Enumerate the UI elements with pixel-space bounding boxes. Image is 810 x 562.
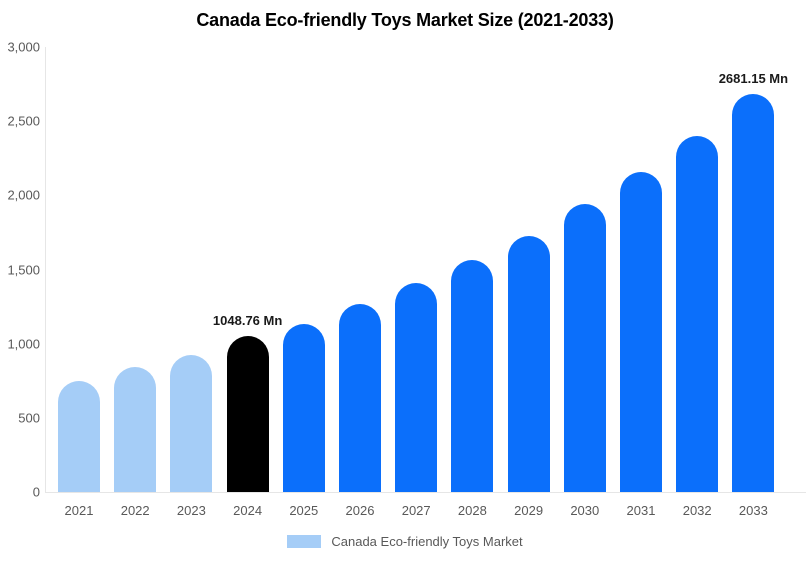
bar-group[interactable]: [676, 47, 718, 492]
bar[interactable]: [451, 260, 493, 492]
y-axis-tick-label: 0: [0, 485, 40, 500]
legend-label: Canada Eco-friendly Toys Market: [331, 534, 522, 549]
bar-group[interactable]: [170, 47, 212, 492]
x-axis-tick-label: 2023: [161, 503, 221, 518]
bar-group[interactable]: [620, 47, 662, 492]
bar[interactable]: [170, 355, 212, 492]
y-axis-tick-label: 500: [0, 410, 40, 425]
x-axis-tick-label: 2032: [667, 503, 727, 518]
y-axis-tick-label: 2,000: [0, 188, 40, 203]
y-axis-tick-label: 3,000: [0, 40, 40, 55]
x-axis-tick-label: 2025: [274, 503, 334, 518]
bar-group[interactable]: [564, 47, 606, 492]
plot-area: 1048.76 Mn2681.15 Mn: [46, 47, 806, 492]
x-axis-tick-label: 2024: [218, 503, 278, 518]
bar[interactable]: [114, 367, 156, 492]
x-axis-tick-label: 2031: [611, 503, 671, 518]
bar-group[interactable]: [451, 47, 493, 492]
y-axis: 05001,0001,5002,0002,5003,000: [0, 0, 40, 562]
y-axis-tick-label: 1,500: [0, 262, 40, 277]
bar-group[interactable]: [339, 47, 381, 492]
x-axis-tick-label: 2030: [555, 503, 615, 518]
bar-group[interactable]: [283, 47, 325, 492]
chart-title: Canada Eco-friendly Toys Market Size (20…: [0, 10, 810, 31]
bar[interactable]: [564, 204, 606, 492]
x-axis-tick-label: 2022: [105, 503, 165, 518]
chart-container: Canada Eco-friendly Toys Market Size (20…: [0, 0, 810, 562]
legend-swatch-icon: [287, 535, 321, 548]
x-axis-line: [46, 492, 806, 493]
bar-group[interactable]: 2681.15 Mn: [732, 47, 774, 492]
bar-group[interactable]: 1048.76 Mn: [227, 47, 269, 492]
bar[interactable]: [676, 136, 718, 492]
bar-group[interactable]: [114, 47, 156, 492]
x-axis-tick-label: 2021: [49, 503, 109, 518]
bar[interactable]: [508, 236, 550, 492]
x-axis-tick-label: 2029: [499, 503, 559, 518]
bar[interactable]: [339, 304, 381, 492]
bar[interactable]: [227, 336, 269, 492]
bar[interactable]: [395, 283, 437, 492]
bar-group[interactable]: [395, 47, 437, 492]
bar[interactable]: [620, 172, 662, 492]
x-axis-tick-label: 2033: [723, 503, 783, 518]
y-axis-tick-label: 1,000: [0, 336, 40, 351]
bar-value-label: 2681.15 Mn: [719, 71, 788, 86]
chart-legend: Canada Eco-friendly Toys Market: [0, 534, 810, 549]
bar-group[interactable]: [508, 47, 550, 492]
x-axis-tick-label: 2028: [442, 503, 502, 518]
y-axis-tick-label: 2,500: [0, 114, 40, 129]
bar-group[interactable]: [58, 47, 100, 492]
x-axis-tick-label: 2026: [330, 503, 390, 518]
bar-value-label: 1048.76 Mn: [213, 313, 282, 328]
bar[interactable]: [58, 381, 100, 492]
bar[interactable]: [732, 94, 774, 492]
x-axis-tick-label: 2027: [386, 503, 446, 518]
bar[interactable]: [283, 324, 325, 492]
